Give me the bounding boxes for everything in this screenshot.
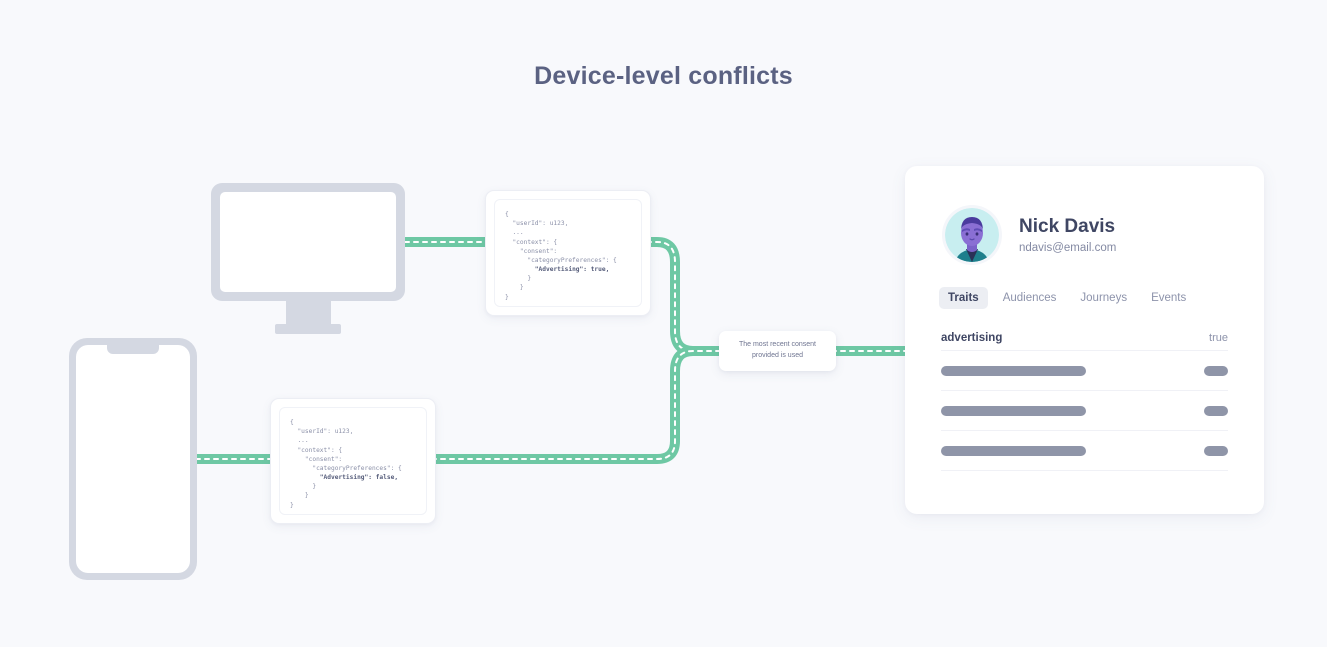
skeleton-bar-short xyxy=(1204,366,1228,376)
profile-name: Nick Davis xyxy=(1019,216,1116,239)
merge-rule-tooltip: The most recent consent provided is used xyxy=(719,331,836,371)
desktop-consent-payload-card: { "userId": u123, ... "context": { "cons… xyxy=(485,190,651,316)
avatar xyxy=(942,205,1002,265)
profile-tabs: Traits Audiences Journeys Events xyxy=(905,265,1264,309)
phone-notch xyxy=(107,345,159,354)
monitor-screen xyxy=(220,192,396,292)
desktop-monitor xyxy=(211,183,405,334)
profile-identity: Nick Davis ndavis@email.com xyxy=(1019,216,1116,255)
code-inner: { "userId": u123, ... "context": { "cons… xyxy=(494,199,642,307)
mobile-payload-code: { "userId": u123, ... "context": { "cons… xyxy=(290,418,416,510)
avatar-illustration-icon xyxy=(945,208,999,262)
phone-screen xyxy=(76,345,190,573)
wire-payload-to-merge-top xyxy=(647,242,723,351)
mobile-consent-payload-card: { "userId": u123, ... "context": { "cons… xyxy=(270,398,436,524)
code-inner: { "userId": u123, ... "context": { "cons… xyxy=(279,407,427,515)
tooltip-line-1: The most recent consent xyxy=(739,341,816,348)
skeleton-bar-long xyxy=(941,366,1086,376)
profile-email: ndavis@email.com xyxy=(1019,242,1116,254)
page-title: Device-level conflicts xyxy=(0,62,1327,91)
mobile-phone xyxy=(69,338,197,580)
monitor-frame xyxy=(211,183,405,301)
table-row-placeholder xyxy=(941,431,1228,471)
tab-events[interactable]: Events xyxy=(1142,287,1195,309)
profile-card: Nick Davis ndavis@email.com Traits Audie… xyxy=(905,166,1264,514)
wire-payload-to-merge-bottom xyxy=(432,351,723,459)
diagram-canvas: Device-level conflicts xyxy=(0,0,1327,647)
tooltip-text: The most recent consent provided is used xyxy=(731,340,824,362)
monitor-neck xyxy=(286,301,331,324)
trait-key: advertising xyxy=(941,332,1002,344)
skeleton-bar-short xyxy=(1204,446,1228,456)
table-row-placeholder xyxy=(941,391,1228,431)
trait-list: advertising true xyxy=(905,309,1264,471)
table-row: advertising true xyxy=(941,326,1228,351)
monitor-base xyxy=(275,324,341,334)
trait-value: true xyxy=(1209,332,1228,344)
skeleton-bar-long xyxy=(941,406,1086,416)
tab-traits[interactable]: Traits xyxy=(939,287,988,309)
skeleton-bar-long xyxy=(941,446,1086,456)
profile-header: Nick Davis ndavis@email.com xyxy=(905,166,1264,265)
table-row-placeholder xyxy=(941,351,1228,391)
skeleton-bar-short xyxy=(1204,406,1228,416)
desktop-payload-code: { "userId": u123, ... "context": { "cons… xyxy=(505,210,631,302)
tab-audiences[interactable]: Audiences xyxy=(994,287,1066,309)
tab-journeys[interactable]: Journeys xyxy=(1071,287,1136,309)
tooltip-line-2: provided is used xyxy=(752,352,803,359)
